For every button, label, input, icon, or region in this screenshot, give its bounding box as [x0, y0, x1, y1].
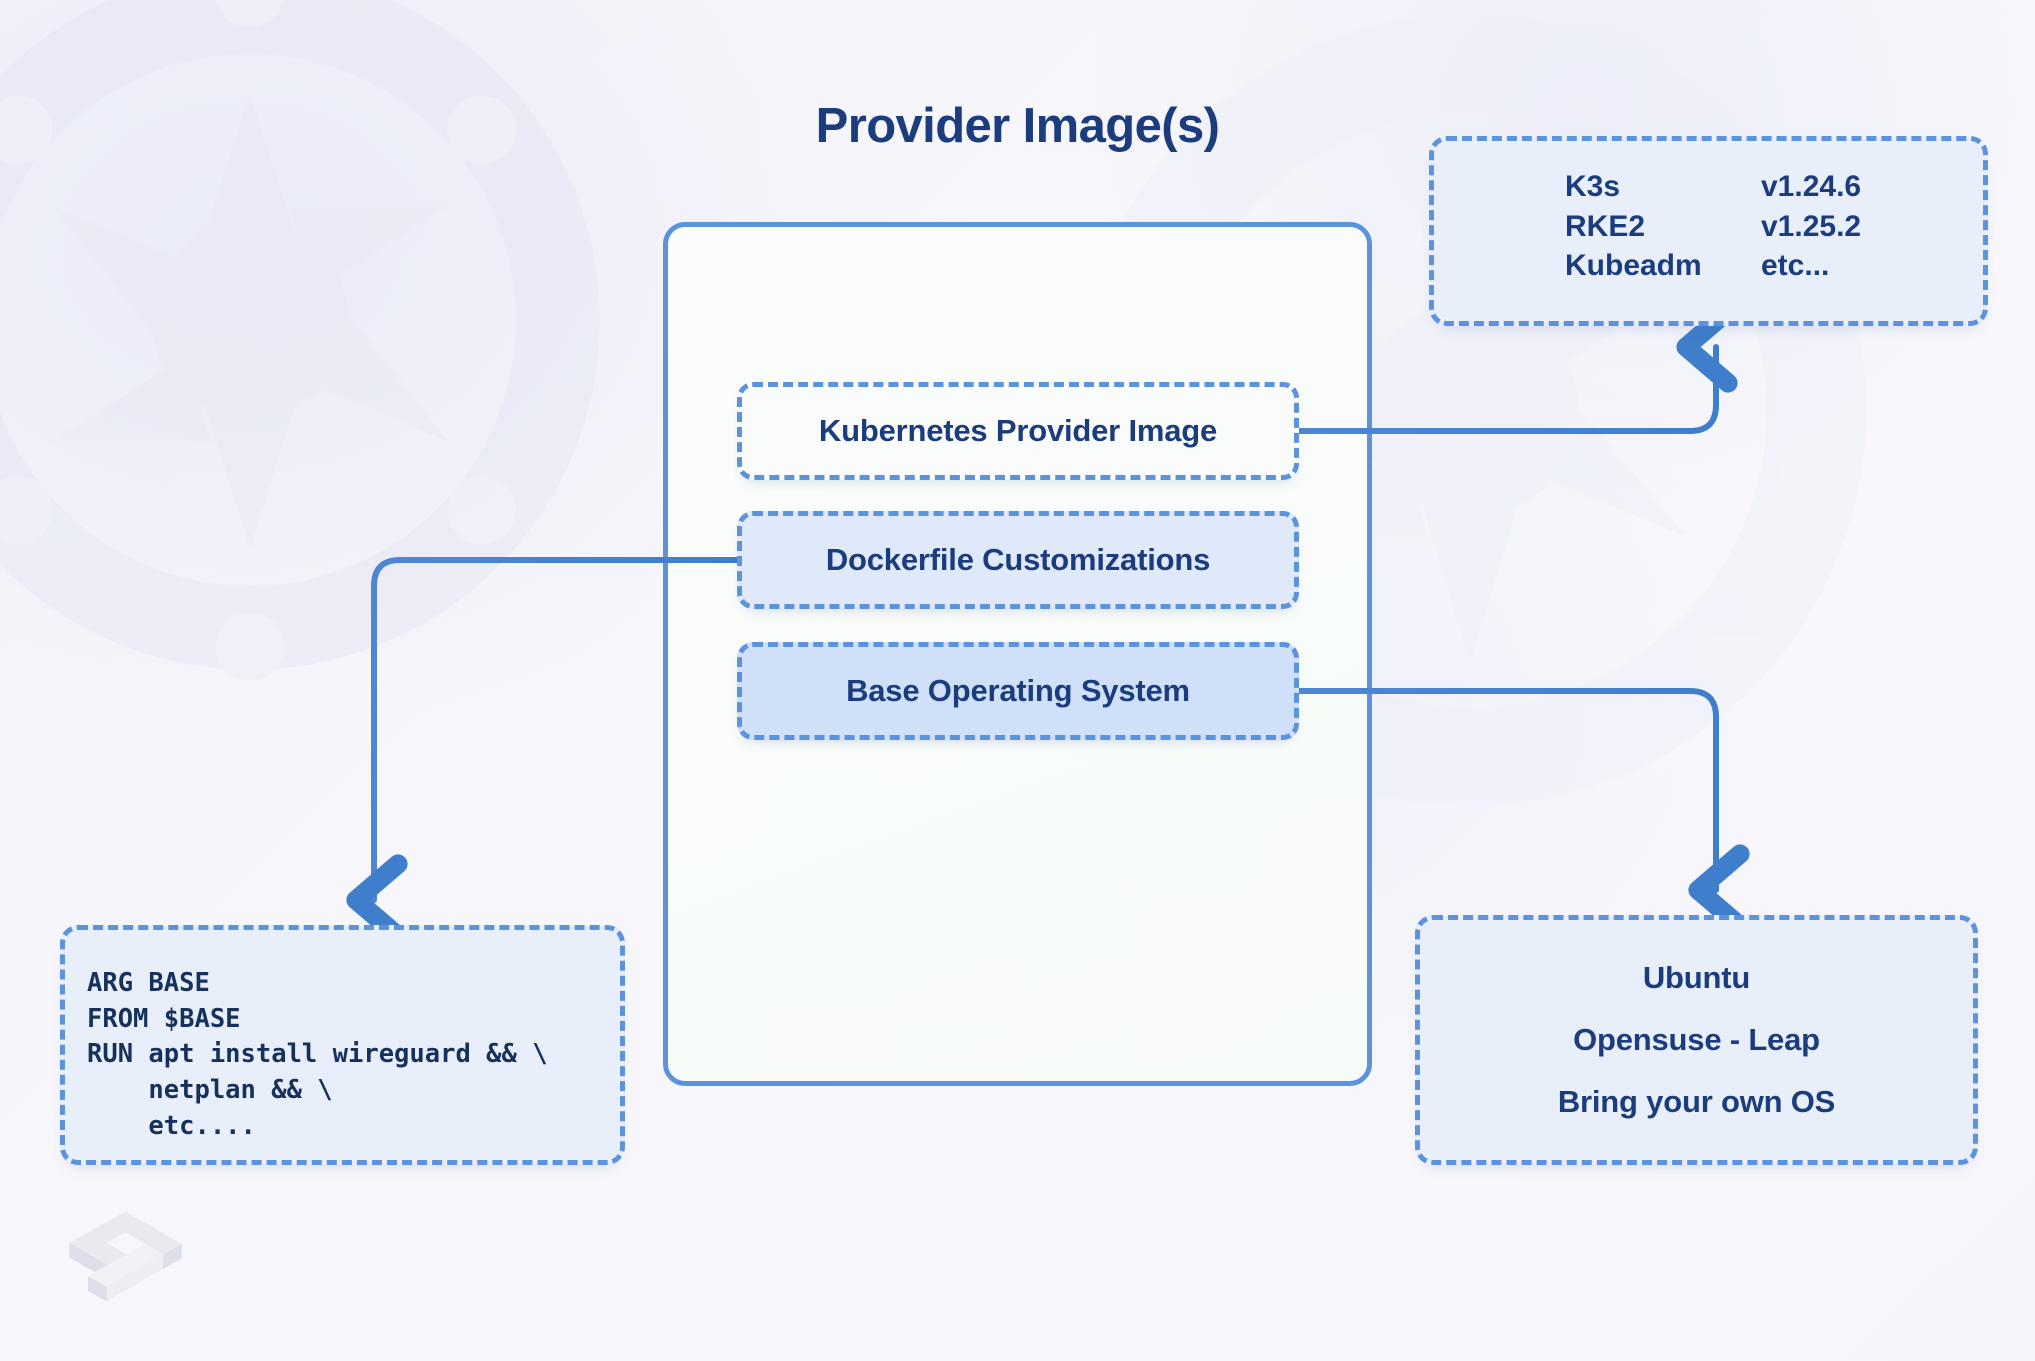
diagram-canvas: Provider Image(s) Kubernetes Provider Im…	[0, 0, 2035, 1361]
layer-box-base-operating-system[interactable]: Base Operating System	[737, 642, 1299, 740]
distribution-version: etc...	[1761, 246, 1829, 286]
spectro-cloud-logo-icon	[63, 1205, 188, 1310]
table-row: Kubeadm etc...	[1434, 246, 1983, 286]
distribution-name: Kubeadm	[1565, 246, 1761, 286]
layer-box-dockerfile-customizations[interactable]: Dockerfile Customizations	[737, 511, 1299, 609]
distribution-name: RKE2	[1565, 207, 1761, 247]
list-item: Ubuntu	[1643, 960, 1750, 996]
distribution-version: v1.25.2	[1761, 207, 1861, 247]
table-row: K3s v1.24.6	[1434, 167, 1983, 207]
distribution-version: v1.24.6	[1761, 167, 1861, 207]
list-item: Bring your own OS	[1558, 1084, 1835, 1120]
page-title: Provider Image(s)	[663, 98, 1372, 154]
operating-systems-box[interactable]: Ubuntu Opensuse - Leap Bring your own OS	[1415, 915, 1978, 1165]
layer-label: Base Operating System	[846, 673, 1190, 709]
dockerfile-code-text: ARG BASE FROM $BASE RUN apt install wire…	[87, 966, 620, 1144]
table-row: RKE2 v1.25.2	[1434, 207, 1983, 247]
distribution-name: K3s	[1565, 167, 1761, 207]
kubernetes-distributions-box[interactable]: K3s v1.24.6 RKE2 v1.25.2 Kubeadm etc...	[1429, 136, 1988, 326]
dockerfile-code-box[interactable]: ARG BASE FROM $BASE RUN apt install wire…	[60, 925, 625, 1165]
kubernetes-helm-watermark-icon	[0, 0, 630, 700]
layer-box-kubernetes-provider-image[interactable]: Kubernetes Provider Image	[737, 382, 1299, 480]
list-item: Opensuse - Leap	[1573, 1022, 1820, 1058]
layer-label: Kubernetes Provider Image	[819, 413, 1217, 449]
layer-label: Dockerfile Customizations	[826, 542, 1210, 578]
